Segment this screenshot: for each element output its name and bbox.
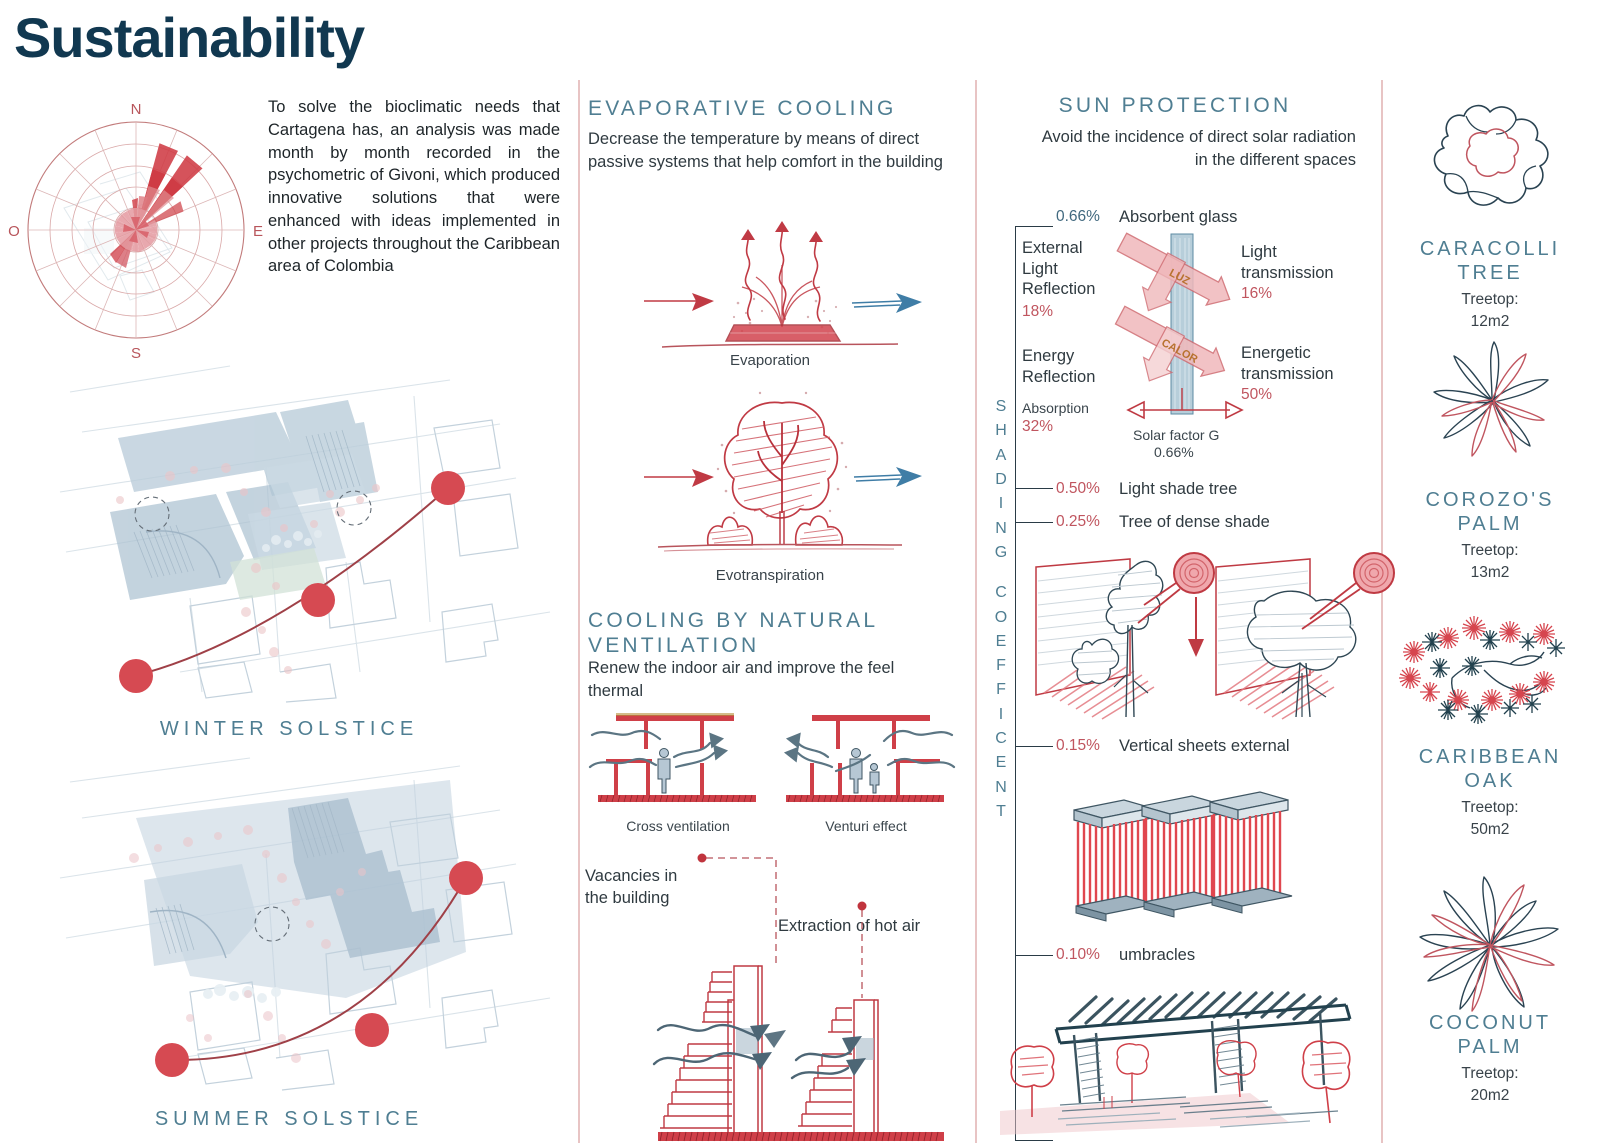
scale-value-dense-shade-tree: 0.25%	[1056, 513, 1100, 531]
light-transmission-label: Light transmission	[1241, 242, 1361, 283]
venturi-effect-caption: Venturi effect	[776, 818, 956, 836]
tree-3-treetop-label: Treetop:	[1385, 798, 1595, 818]
divider-column-1	[578, 80, 580, 1143]
tree-2-name-line2: PALM	[1385, 513, 1595, 536]
windrose-label-s: S	[131, 345, 141, 362]
coconut-palm-icon	[1406, 875, 1576, 1020]
sunpath-dot-mid	[355, 1013, 389, 1047]
absorbent-glass-diagram: LUZ CALOR	[1122, 228, 1252, 433]
shade-tree-panels-diagram	[1022, 535, 1372, 740]
tick-vertical-sheets	[1015, 746, 1053, 747]
rail-char: N	[995, 776, 1007, 800]
evaporation-diagram	[630, 195, 930, 355]
tick-umbracles	[1015, 955, 1053, 956]
ventilation-heading-line2: VENTILATION	[588, 633, 759, 659]
scale-value-umbracles: 0.10%	[1056, 946, 1100, 964]
wind-rose-chart: N E S O	[18, 96, 268, 358]
solar-factor-value: 0.66%	[1154, 444, 1194, 462]
venturi-effect-diagram	[776, 705, 956, 820]
rail-char: E	[996, 751, 1007, 775]
tree-4-treetop-value: 20m2	[1385, 1086, 1595, 1106]
rail-char: I	[999, 703, 1003, 727]
vertical-sheets-diagram	[1060, 780, 1340, 930]
tick-absorbent-glass	[1015, 226, 1053, 227]
towers-ventilation-diagram	[640, 848, 970, 1143]
ventilation-heading-line1: COOLING BY NATURAL	[588, 608, 878, 634]
sustainability-infographic: Sustainability	[0, 0, 1600, 1143]
summer-solstice-label: SUMMER SOLSTICE	[0, 1108, 578, 1131]
evaporative-cooling-heading: EVAPORATIVE COOLING	[588, 96, 897, 122]
shading-coefficient-rail: S H A D I N G C O E F F I C E N T	[988, 395, 1014, 845]
scale-value-absorbent-glass: 0.66%	[1056, 208, 1100, 226]
windrose-label-n: N	[131, 101, 142, 118]
energy-reflection-label: Energy Reflection	[1022, 346, 1137, 387]
sunpath-dot-end	[449, 861, 483, 895]
windrose-label-o: O	[8, 223, 20, 240]
tree-1-name-line1: CARACOLLI	[1385, 238, 1595, 261]
tick-dense-shade-tree	[1015, 522, 1053, 523]
rail-char: A	[996, 444, 1007, 468]
rail-char: C	[995, 727, 1007, 751]
sunpath-dot-end	[431, 471, 465, 505]
tick-light-shade-tree	[1015, 488, 1053, 489]
windrose-label-e: E	[253, 223, 263, 240]
external-light-reflection-label: External Light Reflection	[1022, 238, 1132, 300]
tree-2-treetop-value: 13m2	[1385, 563, 1595, 583]
absorption-label: Absorption	[1022, 400, 1089, 418]
rail-char: G	[995, 541, 1007, 565]
tree-4-treetop-label: Treetop:	[1385, 1064, 1595, 1084]
tree-2-name-line1: COROZO'S	[1385, 489, 1595, 512]
winter-solstice-plan	[30, 372, 550, 702]
tree-1-name-line2: TREE	[1385, 262, 1595, 285]
rail-char: C	[995, 581, 1007, 605]
rail-char: F	[996, 678, 1006, 702]
divider-column-3	[1381, 80, 1383, 1143]
evaporative-cooling-body: Decrease the temperature by means of dir…	[588, 128, 952, 174]
evotranspiration-caption: Evotranspiration	[588, 567, 952, 584]
rail-char: H	[995, 419, 1007, 443]
tree-3-treetop-value: 50m2	[1385, 820, 1595, 840]
sun-protection-body: Avoid the incidence of direct solar radi…	[1040, 126, 1356, 172]
cross-ventilation-caption: Cross ventilation	[588, 818, 768, 836]
sunpath-dot-start	[155, 1043, 189, 1077]
rail-char: S	[996, 395, 1007, 419]
sunpath-dot-start	[119, 659, 153, 693]
ventilation-body: Renew the indoor air and improve the fee…	[588, 657, 928, 703]
intro-paragraph: To solve the bioclimatic needs that Cart…	[268, 96, 560, 278]
tree-2-treetop-label: Treetop:	[1385, 541, 1595, 561]
tree-3-name-line1: CARIBBEAN	[1385, 746, 1595, 769]
scale-label-absorbent-glass: Absorbent glass	[1119, 207, 1237, 228]
sunpath-dot-mid	[301, 583, 335, 617]
tree-4-name-line2: PALM	[1385, 1036, 1595, 1059]
rail-char: N	[995, 517, 1007, 541]
evotranspiration-diagram	[630, 385, 930, 565]
divider-column-2	[975, 80, 977, 1143]
tree-1-treetop-label: Treetop:	[1385, 290, 1595, 310]
page-title: Sustainability	[14, 10, 364, 66]
energetic-transmission-label: Energetic transmission	[1241, 343, 1361, 384]
cross-ventilation-diagram	[588, 705, 768, 820]
rail-char: O	[995, 606, 1007, 630]
rail-char: T	[996, 800, 1006, 824]
sun-protection-heading: SUN PROTECTION	[995, 93, 1355, 119]
corozos-palm-icon	[1414, 338, 1569, 468]
rail-char: E	[996, 630, 1007, 654]
winter-solstice-label: WINTER SOLSTICE	[0, 718, 578, 741]
evaporation-caption: Evaporation	[588, 352, 952, 369]
caracolli-tree-icon	[1408, 98, 1574, 233]
summer-solstice-plan	[30, 762, 550, 1092]
scale-label-umbracles: umbracles	[1119, 945, 1195, 966]
absorption-value: 32%	[1022, 418, 1053, 436]
rail-char: D	[995, 468, 1007, 492]
rail-char: F	[996, 654, 1006, 678]
scale-label-dense-shade-tree: Tree of dense shade	[1119, 512, 1270, 533]
rail-char: I	[999, 492, 1003, 516]
external-light-reflection-value: 18%	[1022, 303, 1053, 321]
tree-3-name-line2: OAK	[1385, 770, 1595, 793]
tick-axis-bottom	[1015, 1140, 1053, 1141]
umbracles-diagram	[1000, 985, 1360, 1140]
scale-label-light-shade-tree: Light shade tree	[1119, 479, 1237, 500]
scale-value-light-shade-tree: 0.50%	[1056, 480, 1100, 498]
tree-4-name-line1: COCONUT	[1385, 1012, 1595, 1035]
tree-1-treetop-value: 12m2	[1385, 312, 1595, 332]
caribbean-oak-icon	[1392, 608, 1577, 745]
